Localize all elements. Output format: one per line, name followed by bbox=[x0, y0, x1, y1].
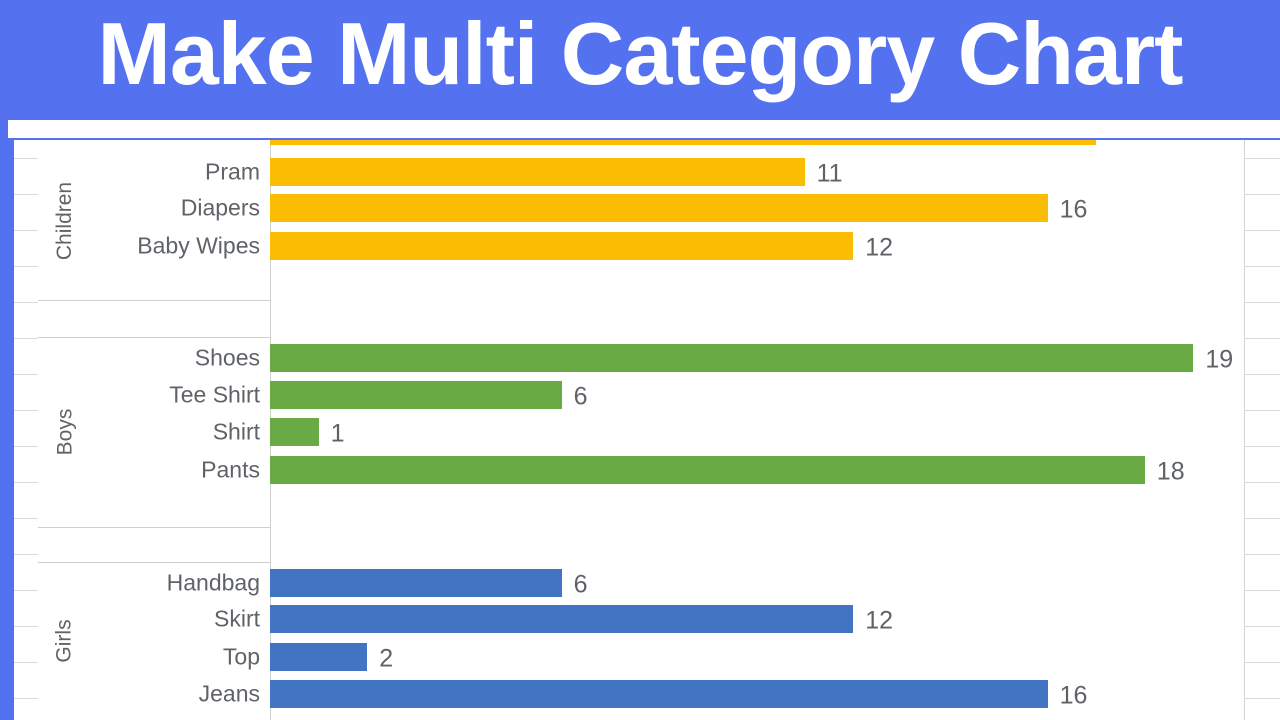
category-label: Shirt bbox=[213, 419, 260, 446]
multi-category-bar-chart[interactable]: ChildrenPramDiapersBaby WipesBoysShoesTe… bbox=[38, 140, 1244, 720]
category-label: Tee Shirt bbox=[169, 382, 260, 409]
sheet-row-header-column[interactable] bbox=[14, 140, 39, 720]
bar-top[interactable] bbox=[270, 643, 367, 671]
sheet-row-gridline bbox=[14, 626, 38, 627]
bar-value-label: 19 bbox=[1205, 346, 1233, 375]
bar-shoes[interactable] bbox=[270, 344, 1193, 372]
sheet-row-gridline bbox=[14, 374, 38, 375]
sheet-row-gridline bbox=[14, 410, 38, 411]
left-blue-margin bbox=[0, 140, 14, 720]
group-label-children: Children bbox=[44, 142, 86, 300]
bar-value-label: 12 bbox=[865, 234, 893, 263]
category-label: Baby Wipes bbox=[137, 233, 260, 260]
sheet-row-gridline bbox=[1244, 518, 1280, 519]
sheet-row-gridline bbox=[14, 158, 38, 159]
sheet-row-gridline bbox=[14, 446, 38, 447]
bar-value-label: 6 bbox=[574, 383, 588, 412]
category-label: Top bbox=[223, 644, 260, 671]
bar-pants[interactable] bbox=[270, 456, 1145, 484]
sheet-row-gridline bbox=[1244, 698, 1280, 699]
banner-white-strip bbox=[8, 120, 1280, 138]
group-separator bbox=[38, 562, 270, 563]
sheet-row-gridline bbox=[1244, 266, 1280, 267]
bar-skirt[interactable] bbox=[270, 605, 853, 633]
bar-value-label: 2 bbox=[379, 645, 393, 674]
page-title: Make Multi Category Chart bbox=[0, 0, 1280, 112]
title-banner: Make Multi Category Chart bbox=[0, 0, 1280, 140]
bar-value-label: 6 bbox=[574, 571, 588, 600]
group-separator bbox=[38, 337, 270, 338]
bar-value-label: 16 bbox=[1060, 196, 1088, 225]
sheet-row-gridline bbox=[14, 482, 38, 483]
bar-value-label: 11 bbox=[817, 160, 843, 189]
sheet-row-gridline bbox=[14, 554, 38, 555]
sheet-row-gridline bbox=[14, 698, 38, 699]
sheet-row-gridline bbox=[1244, 482, 1280, 483]
category-label: Handbag bbox=[167, 570, 260, 597]
category-axis: ChildrenPramDiapersBaby WipesBoysShoesTe… bbox=[38, 140, 271, 720]
category-label: Skirt bbox=[214, 606, 260, 633]
sheet-row-gridline bbox=[14, 590, 38, 591]
bar-jeans[interactable] bbox=[270, 680, 1048, 708]
sheet-row-gridline bbox=[14, 194, 38, 195]
group-separator bbox=[38, 527, 270, 528]
bar-value-label: 1 bbox=[331, 420, 345, 449]
group-label-girls: Girls bbox=[44, 562, 86, 720]
category-label: Diapers bbox=[181, 195, 260, 222]
bar-shirt[interactable] bbox=[270, 418, 319, 446]
sheet-row-gridline bbox=[1244, 626, 1280, 627]
category-label: Jeans bbox=[199, 681, 260, 708]
sheet-row-gridline bbox=[14, 230, 38, 231]
bar-value-label: 18 bbox=[1157, 458, 1185, 487]
category-label: Shoes bbox=[195, 345, 260, 372]
group-label-boys: Boys bbox=[44, 337, 86, 527]
bar-clipped-top[interactable] bbox=[270, 140, 1096, 145]
sheet-row-gridline bbox=[1244, 194, 1280, 195]
bar-pram[interactable] bbox=[270, 158, 805, 186]
plot-area: 111612196118612216 bbox=[270, 140, 1244, 720]
sheet-row-gridline bbox=[1244, 338, 1280, 339]
sheet-row-gridline bbox=[14, 518, 38, 519]
category-label: Pram bbox=[205, 159, 260, 186]
sheet-row-gridline bbox=[1244, 446, 1280, 447]
bar-handbag[interactable] bbox=[270, 569, 562, 597]
sheet-row-gridline bbox=[1244, 230, 1280, 231]
group-separator bbox=[38, 300, 270, 301]
sheet-row-gridline bbox=[1244, 590, 1280, 591]
sheet-row-gridline bbox=[1244, 302, 1280, 303]
sheet-row-gridline bbox=[14, 302, 38, 303]
sheet-row-gridline bbox=[1244, 410, 1280, 411]
bar-diapers[interactable] bbox=[270, 194, 1048, 222]
sheet-row-gridline bbox=[14, 266, 38, 267]
bar-value-label: 16 bbox=[1060, 682, 1088, 711]
bar-baby-wipes[interactable] bbox=[270, 232, 853, 260]
category-label: Pants bbox=[201, 457, 260, 484]
sheet-row-gridline bbox=[1244, 662, 1280, 663]
sheet-row-gridline bbox=[1244, 554, 1280, 555]
bar-tee-shirt[interactable] bbox=[270, 381, 562, 409]
sheet-row-gridline bbox=[1244, 158, 1280, 159]
sheet-row-gridline bbox=[1244, 374, 1280, 375]
sheet-row-gridline bbox=[14, 662, 38, 663]
bar-value-label: 12 bbox=[865, 607, 893, 636]
sheet-row-gridline bbox=[14, 338, 38, 339]
sheet-right-column[interactable] bbox=[1244, 140, 1280, 720]
